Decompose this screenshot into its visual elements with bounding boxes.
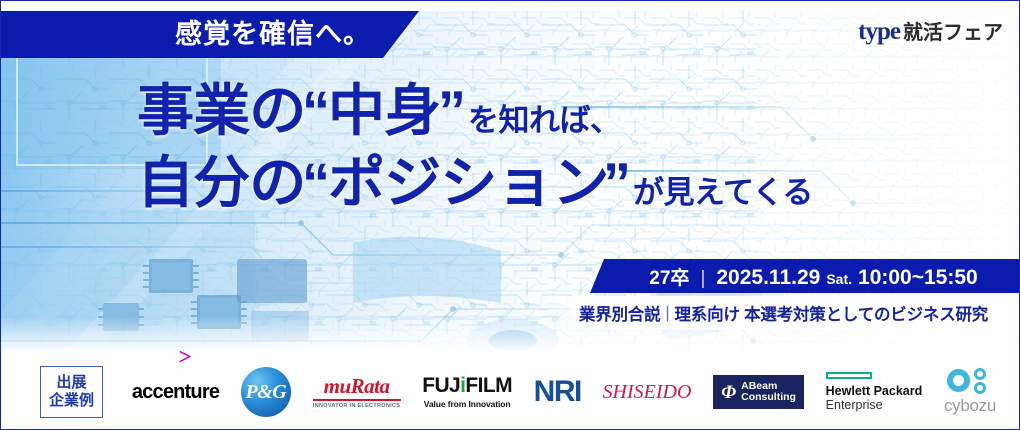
hpe-word-a: Hewlett Packard <box>826 384 923 398</box>
logo-shiseido: SHISEIDO <box>603 355 692 429</box>
event-time-range: 10:00~15:50 <box>858 266 978 290</box>
cybozu-wordmark: cybozu <box>944 396 996 416</box>
murata-tagline: INNOVATOR IN ELECTRONICS <box>313 403 400 409</box>
exhibitor-label-line2: 企業例 <box>49 392 94 410</box>
headline-line-2: 自分の “ ポジション ” が見えてくる <box>137 155 1017 211</box>
cybozu-circles-icon <box>947 369 993 395</box>
event-day-of-week: Sat. <box>826 271 852 287</box>
subtitle-separator: | <box>665 304 669 323</box>
fujifilm-tagline: Value from Innovation <box>424 399 511 409</box>
event-banner: 感覚を確信へ。 type 就活フェア 事業の “ 中身 ” を知れば、 自分の … <box>0 0 1020 430</box>
brand-logo: type 就活フェア <box>858 19 1003 44</box>
fujifilm-word-a: FUJ <box>422 374 460 397</box>
pg-wordmark: P&G <box>245 381 286 404</box>
murata-wordmark: muRata <box>324 376 390 397</box>
company-logos: accenture ＞ P&G muRata INNOVATOR IN ELEC… <box>103 355 1019 429</box>
hpe-word-b: Enterprise <box>826 398 883 412</box>
logo-fujifilm: FUJiFILM Value from Innovation <box>422 355 512 429</box>
event-subtitle-bar: 業界別合説 | 理系向け 本選考対策としてのビジネス研究 <box>546 296 1020 330</box>
logo-hpe: Hewlett Packard Enterprise <box>826 355 923 429</box>
headline-l1-tail: を知れば、 <box>468 105 621 139</box>
logo-accenture: accenture ＞ <box>132 355 219 429</box>
subtitle-right: 理系向け 本選考対策としてのビジネス研究 <box>675 301 989 325</box>
headline-l2-tail: が見えてくる <box>633 177 813 211</box>
abeam-word-b: Consulting <box>741 392 796 403</box>
headline-l2-emphasis: ポジション <box>328 155 609 211</box>
tagline-text: 感覚を確信へ。 <box>175 21 371 48</box>
fujifilm-word-b: FILM <box>465 374 512 397</box>
logo-nri: NRI <box>534 355 581 429</box>
tagline-ribbon: 感覚を確信へ。 <box>0 11 419 58</box>
logo-cybozu: cybozu <box>944 355 996 429</box>
brand-type-word: type <box>858 19 900 44</box>
logo-pg: P&G <box>241 355 291 429</box>
accenture-wordmark: accenture <box>132 381 219 404</box>
date-separator: | <box>700 268 705 290</box>
murata-rule <box>313 399 401 401</box>
logo-murata: muRata INNOVATOR IN ELECTRONICS <box>313 355 401 429</box>
subtitle-left: 業界別合説 <box>579 301 661 325</box>
graduation-year: 27卒 <box>649 263 689 290</box>
headline-l2-quote-open: “ <box>302 155 328 211</box>
fujifilm-wordmark: FUJiFILM <box>422 375 512 396</box>
headline-line-1: 事業の “ 中身 ” を知れば、 <box>137 83 1017 139</box>
nri-wordmark: NRI <box>534 377 581 407</box>
logo-abeam: Φ ABeam Consulting <box>713 355 804 429</box>
shiseido-wordmark: SHISEIDO <box>603 382 692 402</box>
headline-l2-pre: 自分の <box>137 155 305 211</box>
pg-circle-icon: P&G <box>241 367 291 417</box>
exhibitor-logo-strip: 出展 企業例 accenture ＞ P&G muRata INNOVATOR … <box>1 355 1019 429</box>
headline-l1-pre: 事業の <box>137 83 305 139</box>
headline-l1-emphasis: 中身 <box>328 83 440 139</box>
exhibitor-label-line1: 出展 <box>56 374 86 392</box>
exhibitor-label-box: 出展 企業例 <box>40 366 103 418</box>
event-date-content: 27卒 | 2025.11.29 Sat. 10:00~15:50 <box>649 263 977 290</box>
headline: 事業の “ 中身 ” を知れば、 自分の “ ポジション ” が見えてくる <box>137 83 1017 211</box>
event-date-bar: 27卒 | 2025.11.29 Sat. 10:00~15:50 <box>590 259 1020 293</box>
headline-l1-quote-open: “ <box>302 83 328 139</box>
brand-jp-word: 就活フェア <box>903 23 1003 43</box>
abeam-monogram-icon: Φ <box>721 383 736 402</box>
headline-l1-quote-close: ” <box>438 83 464 139</box>
hpe-bar-icon <box>826 372 872 379</box>
event-date: 2025.11.29 <box>716 266 820 290</box>
accenture-arrow-icon: ＞ <box>178 350 192 364</box>
